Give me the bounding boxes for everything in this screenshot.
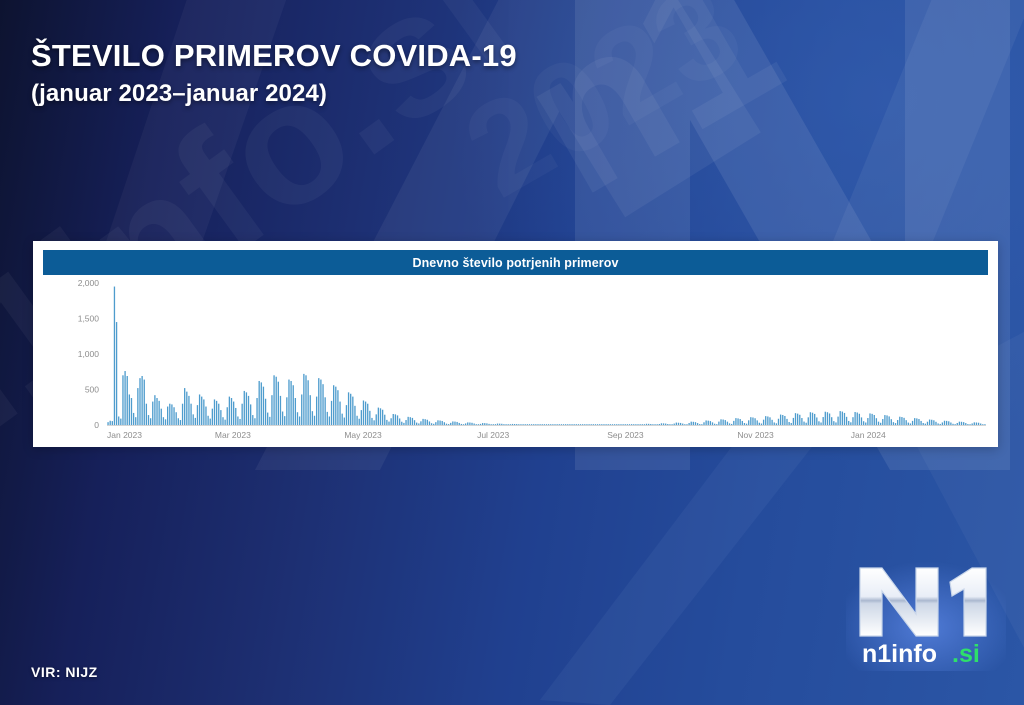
bar [676, 423, 677, 425]
bar [335, 387, 336, 425]
bar [608, 424, 609, 425]
bar [148, 415, 149, 425]
bar [348, 392, 349, 425]
bar [814, 414, 815, 425]
bar [388, 422, 389, 425]
bar [927, 422, 928, 425]
bar [895, 423, 896, 425]
bar [354, 406, 355, 425]
bar [757, 420, 758, 425]
bar [390, 418, 391, 425]
bar [974, 422, 975, 425]
bar [395, 414, 396, 425]
chart-title: Dnevno število potrjenih primerov [412, 256, 618, 270]
bar [218, 404, 219, 425]
bar [854, 412, 855, 425]
bar [359, 419, 360, 425]
bar [188, 396, 189, 425]
bar [118, 416, 119, 425]
bar [901, 417, 902, 425]
bar [908, 423, 909, 425]
bar [416, 423, 417, 425]
bar [412, 418, 413, 425]
bar [691, 422, 692, 425]
bar [893, 422, 894, 425]
bar [844, 413, 845, 425]
bar [765, 416, 766, 425]
bar [595, 424, 596, 425]
bar [859, 414, 860, 425]
bar [780, 415, 781, 425]
bar [193, 414, 194, 425]
bar [710, 421, 711, 425]
chart-header-bar: Dnevno število potrjenih primerov [43, 250, 988, 275]
bar [576, 424, 577, 425]
bar [816, 417, 817, 425]
bar [897, 420, 898, 425]
bar [144, 380, 145, 425]
bar [648, 424, 649, 425]
bar [273, 375, 274, 425]
bar [778, 419, 779, 425]
bar [759, 423, 760, 425]
bar [290, 381, 291, 425]
bar [124, 371, 125, 425]
bar [840, 411, 841, 425]
bar [350, 394, 351, 425]
bar [248, 396, 249, 425]
bar [795, 413, 796, 425]
bar [501, 424, 502, 425]
bar [448, 424, 449, 425]
bar [567, 424, 568, 425]
bar [297, 412, 298, 425]
bar [737, 418, 738, 425]
bar [918, 419, 919, 425]
bar [267, 413, 268, 425]
x-axis-tick-label: Nov 2023 [737, 430, 774, 440]
bar [110, 421, 111, 425]
bar [120, 419, 121, 425]
bar-series [107, 287, 985, 425]
bar [976, 423, 977, 425]
bar [578, 424, 579, 425]
bar [276, 377, 277, 425]
bar [963, 422, 964, 425]
bar [442, 421, 443, 425]
bar [127, 376, 128, 425]
bar [682, 424, 683, 425]
bar [378, 408, 379, 425]
bar [942, 422, 943, 425]
bar [437, 420, 438, 425]
bar [286, 397, 287, 425]
bar [937, 423, 938, 425]
bar [301, 394, 302, 425]
bar [972, 423, 973, 425]
bar [244, 391, 245, 425]
bar [906, 420, 907, 425]
bar [925, 424, 926, 425]
bar [333, 385, 334, 425]
bar [373, 420, 374, 425]
bar [697, 423, 698, 425]
bar [786, 419, 787, 425]
bar [874, 415, 875, 425]
bar [152, 402, 153, 425]
bar [965, 423, 966, 425]
bar [231, 398, 232, 425]
bar [761, 424, 762, 425]
bar [750, 417, 751, 425]
bar [512, 424, 513, 425]
bar [299, 416, 300, 425]
bar [837, 417, 838, 425]
bar [403, 423, 404, 425]
bar [116, 322, 117, 425]
bar [186, 392, 187, 425]
bar [618, 424, 619, 425]
bar [190, 404, 191, 425]
bar [912, 421, 913, 425]
bar [382, 410, 383, 425]
chart-card: Dnevno število potrjenih primerov 05001,… [33, 241, 998, 447]
bar [857, 413, 858, 426]
bar [852, 417, 853, 425]
source-label: VIR: NIJZ [31, 664, 98, 680]
bar [799, 415, 800, 425]
bar [410, 417, 411, 425]
bar [169, 404, 170, 425]
bar [165, 419, 166, 425]
bar [686, 424, 687, 425]
bar [386, 420, 387, 425]
bar [869, 413, 870, 425]
bar [163, 417, 164, 425]
bar [644, 424, 645, 425]
bar [733, 421, 734, 425]
bar [935, 422, 936, 425]
bar [269, 417, 270, 425]
bar [114, 287, 115, 425]
bar [420, 421, 421, 425]
bar [531, 424, 532, 425]
bar [212, 409, 213, 425]
bar [227, 407, 228, 425]
bar [197, 405, 198, 425]
bar [363, 401, 364, 425]
bar [484, 423, 485, 425]
bar [791, 423, 792, 425]
bar [482, 423, 483, 425]
bar [616, 424, 617, 425]
bar [520, 424, 521, 425]
bar [156, 398, 157, 425]
bar [201, 397, 202, 425]
bar [769, 417, 770, 425]
bar [633, 424, 634, 425]
bar [465, 423, 466, 425]
bar [850, 422, 851, 425]
bar [129, 394, 130, 425]
bar [720, 419, 721, 425]
bar [133, 413, 134, 425]
bar [371, 418, 372, 425]
bar [863, 421, 864, 425]
bar [820, 423, 821, 425]
bar [369, 411, 370, 425]
bar [833, 421, 834, 425]
bar [539, 424, 540, 425]
bar [903, 418, 904, 425]
bar [154, 395, 155, 425]
bar [742, 421, 743, 425]
bar [510, 424, 511, 425]
bar [688, 423, 689, 425]
bar [639, 424, 640, 425]
bar [705, 420, 706, 425]
bar [529, 424, 530, 425]
bar [878, 422, 879, 425]
bar [527, 424, 528, 425]
bar [461, 424, 462, 425]
bar [216, 401, 217, 425]
bar [612, 424, 613, 425]
bar [473, 424, 474, 425]
bar [352, 397, 353, 425]
bar [344, 418, 345, 425]
bar [940, 424, 941, 425]
bar [848, 421, 849, 425]
bar [614, 424, 615, 425]
bar [842, 412, 843, 425]
x-axis-tick-label: May 2023 [344, 430, 382, 440]
bar [408, 417, 409, 425]
bar [478, 424, 479, 425]
bar [944, 421, 945, 425]
bar [182, 404, 183, 425]
bar [889, 416, 890, 425]
bar [141, 376, 142, 425]
bar [427, 420, 428, 425]
bar [952, 424, 953, 425]
bar [784, 416, 785, 425]
bar [808, 417, 809, 425]
n1info-logo: n1info .si [846, 556, 1006, 671]
bar [920, 421, 921, 425]
bar [884, 415, 885, 425]
bar [946, 421, 947, 425]
bar [923, 423, 924, 425]
bar [950, 423, 951, 425]
bar [740, 419, 741, 425]
bar [250, 404, 251, 425]
bar [246, 392, 247, 425]
bar [574, 424, 575, 425]
bar [546, 424, 547, 425]
bar [774, 422, 775, 425]
bar [591, 424, 592, 425]
bar [480, 424, 481, 425]
bar [459, 423, 460, 425]
bar [712, 422, 713, 425]
bar [259, 381, 260, 425]
bar [380, 408, 381, 425]
bar [603, 424, 604, 425]
bar [327, 412, 328, 425]
bar [823, 417, 824, 425]
bar [303, 374, 304, 425]
bar [954, 424, 955, 425]
bar [522, 424, 523, 425]
bar [339, 402, 340, 425]
y-axis-tick-label: 500 [85, 385, 99, 395]
bar [763, 420, 764, 425]
bar [646, 424, 647, 425]
bar [205, 407, 206, 425]
bar [659, 424, 660, 425]
bar [803, 422, 804, 425]
bar [722, 420, 723, 425]
bar [499, 424, 500, 425]
bar [239, 419, 240, 425]
bar [714, 424, 715, 425]
bar [771, 420, 772, 425]
bar [167, 407, 168, 425]
bar [818, 421, 819, 425]
bar [727, 422, 728, 425]
bar [865, 423, 866, 425]
bar [831, 417, 832, 425]
bar [695, 422, 696, 425]
bar [393, 414, 394, 425]
x-axis-tick-label: Jan 2024 [851, 430, 886, 440]
bar [554, 424, 555, 425]
bar [397, 415, 398, 425]
bar [552, 424, 553, 425]
bar [252, 415, 253, 425]
bar [571, 424, 572, 425]
bar [435, 422, 436, 425]
bar [176, 412, 177, 425]
bar [337, 390, 338, 425]
bar [112, 421, 113, 425]
bar [433, 424, 434, 425]
bar [256, 398, 257, 425]
bar [556, 424, 557, 425]
bar [680, 423, 681, 425]
bar [563, 424, 564, 425]
bar [469, 423, 470, 425]
bar [610, 424, 611, 425]
bar [537, 424, 538, 425]
bar [716, 424, 717, 425]
bar [625, 424, 626, 425]
bar [806, 423, 807, 425]
bar [229, 397, 230, 425]
bar [533, 424, 534, 425]
bar [542, 424, 543, 425]
bar [669, 424, 670, 425]
bar [150, 418, 151, 425]
bar [846, 417, 847, 425]
bar [665, 424, 666, 425]
bar [422, 419, 423, 425]
bar [631, 424, 632, 425]
bar [146, 404, 147, 425]
x-axis-tick-label: Mar 2023 [215, 430, 251, 440]
y-axis-tick-label: 1,000 [78, 349, 100, 359]
bar [597, 424, 598, 425]
bar [667, 424, 668, 425]
bar [456, 422, 457, 425]
bar [280, 396, 281, 425]
bar [735, 418, 736, 425]
bar [305, 375, 306, 425]
page-subtitle: (januar 2023–januar 2024) [31, 80, 327, 108]
bar [414, 420, 415, 425]
bar [401, 422, 402, 425]
bar [235, 408, 236, 425]
bar [699, 424, 700, 425]
bar [431, 423, 432, 425]
bar [959, 422, 960, 425]
bar [678, 423, 679, 425]
bar [282, 412, 283, 425]
bar [222, 417, 223, 425]
bar [367, 404, 368, 425]
bar [861, 417, 862, 425]
bar [588, 424, 589, 425]
bar [867, 418, 868, 425]
bar [365, 402, 366, 425]
bar [399, 418, 400, 425]
bar [601, 424, 602, 425]
bar [627, 424, 628, 425]
bar [657, 424, 658, 425]
bar [957, 423, 958, 425]
bar [810, 412, 811, 425]
bar [825, 412, 826, 425]
bar [652, 424, 653, 425]
bar [497, 424, 498, 425]
bar [776, 423, 777, 425]
bar [505, 424, 506, 425]
bar [661, 423, 662, 425]
bar [622, 424, 623, 425]
bar [173, 407, 174, 425]
bar [331, 401, 332, 425]
bar [827, 412, 828, 425]
bar [220, 410, 221, 425]
bar [254, 418, 255, 425]
bar [195, 418, 196, 425]
bar [801, 418, 802, 425]
bar [233, 402, 234, 425]
bar [693, 422, 694, 425]
y-axis-tick-label: 0 [94, 420, 99, 430]
bar [203, 399, 204, 425]
bar [439, 421, 440, 425]
bar [514, 424, 515, 425]
bar [599, 424, 600, 425]
bar [663, 423, 664, 425]
bar [793, 418, 794, 425]
bar [654, 424, 655, 425]
bar [405, 420, 406, 425]
bar [929, 420, 930, 425]
bar [495, 424, 496, 425]
